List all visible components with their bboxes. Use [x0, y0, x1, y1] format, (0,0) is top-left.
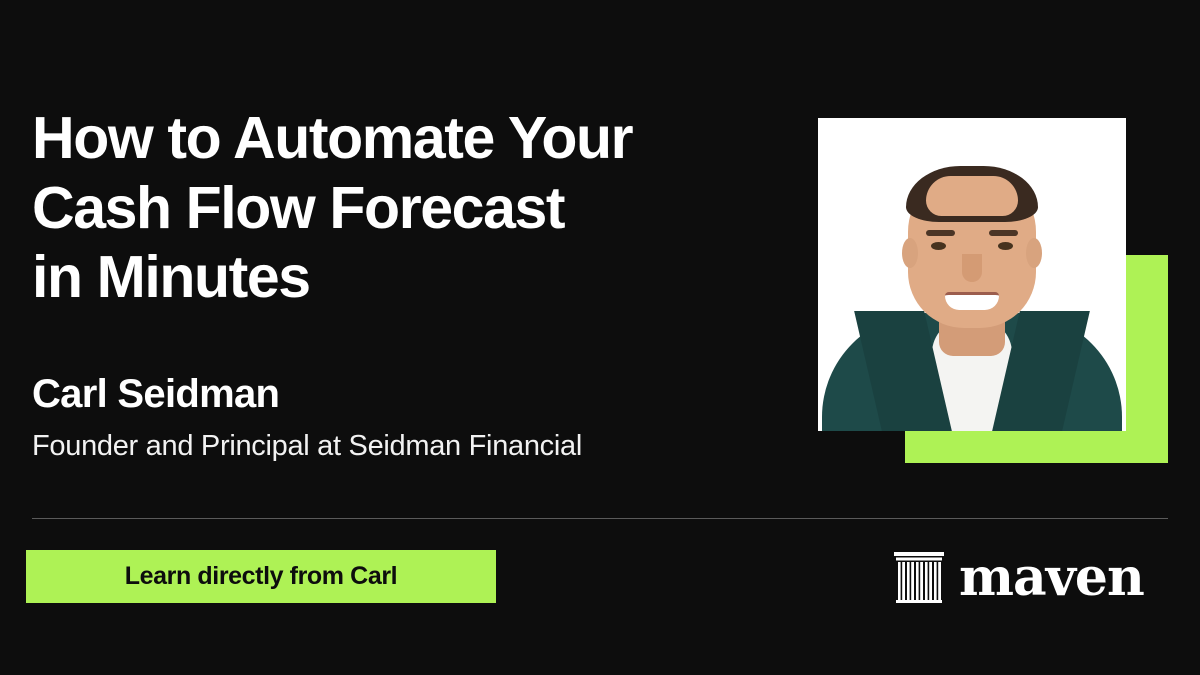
classical-column-icon: [893, 550, 945, 606]
divider: [32, 518, 1168, 519]
portrait-mouth: [945, 292, 999, 310]
portrait-nose: [962, 254, 982, 282]
portrait-brow-right: [989, 230, 1018, 236]
speaker-block: Carl Seidman Founder and Principal at Se…: [32, 372, 792, 463]
portrait-ear-left: [902, 238, 918, 268]
portrait-forehead: [926, 176, 1018, 216]
page-title: How to Automate Your Cash Flow Forecast …: [32, 104, 792, 313]
portrait-eye-left: [931, 242, 946, 250]
speaker-photo-area: [818, 118, 1168, 463]
speaker-role: Founder and Principal at Seidman Financi…: [32, 430, 792, 463]
portrait-brow-left: [926, 230, 955, 236]
promo-card: How to Automate Your Cash Flow Forecast …: [0, 0, 1200, 675]
avatar: [818, 118, 1126, 431]
maven-logo[interactable]: maven: [893, 548, 1144, 608]
speaker-name: Carl Seidman: [32, 372, 792, 416]
portrait-eye-right: [998, 242, 1013, 250]
speaker-portrait-illustration: [818, 118, 1126, 431]
learn-from-carl-button[interactable]: Learn directly from Carl: [26, 550, 496, 603]
portrait-ear-right: [1026, 238, 1042, 268]
maven-wordmark: maven: [959, 552, 1144, 604]
